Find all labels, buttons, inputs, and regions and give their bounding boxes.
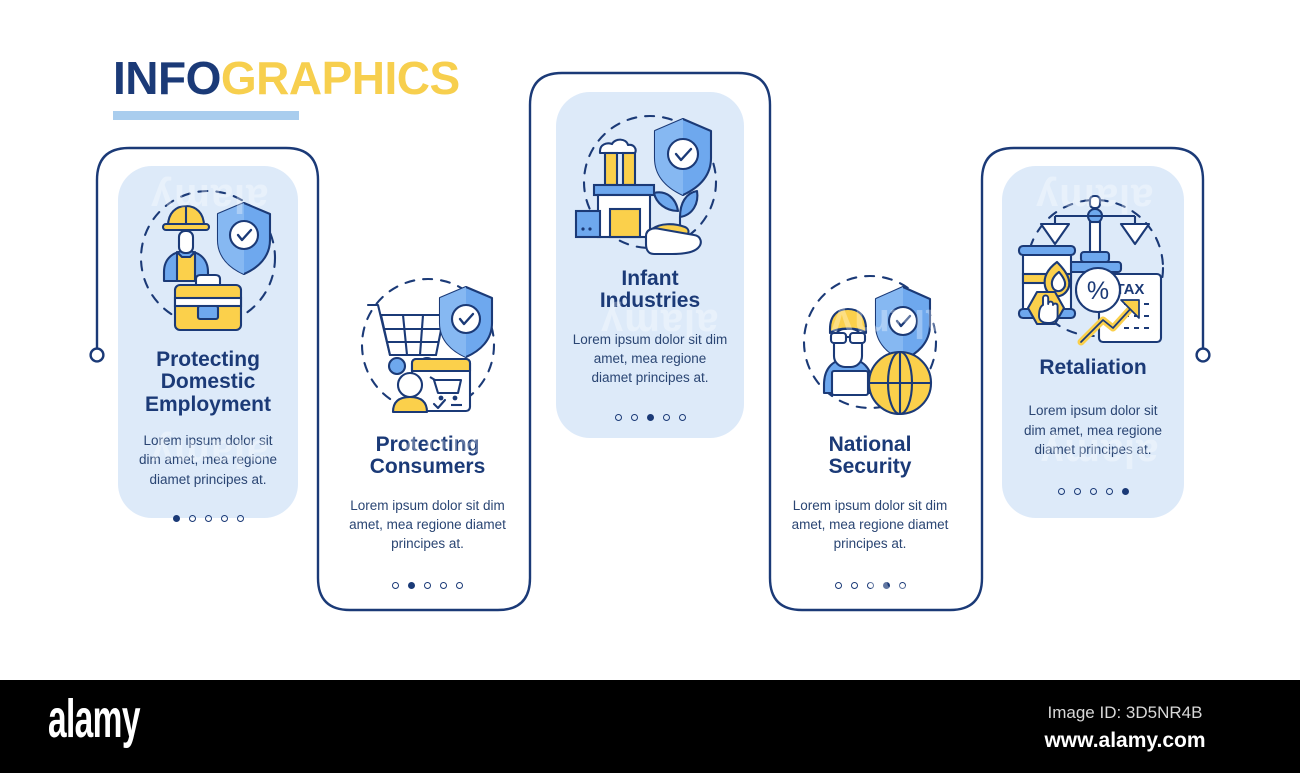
card-title-line: Protecting <box>376 433 480 456</box>
card-infant-industries[interactable]: Infant Industries Lorem ipsum dolor sit … <box>556 92 744 438</box>
step-indicator[interactable] <box>392 582 463 589</box>
watermark-text: alamy <box>610 555 728 600</box>
card-description: Lorem ipsum dolor sit dim amet, mea regi… <box>772 496 968 554</box>
card-description: Lorem ipsum dolor sit dim amet, mea regi… <box>330 496 525 554</box>
title-secondary: GRAPHICS <box>221 52 460 104</box>
alamy-url: www.alamy.com <box>1000 726 1250 755</box>
card-description: Lorem ipsum dolor sit dim amet, mea regi… <box>556 330 744 388</box>
step-dot[interactable] <box>883 582 890 589</box>
card-protecting-domestic-employment[interactable]: Protecting Domestic Employment Lorem ips… <box>118 166 298 518</box>
step-dot[interactable] <box>456 582 463 589</box>
title-primary: INFO <box>113 52 221 104</box>
step-dot[interactable] <box>189 515 196 522</box>
svg-text:%: % <box>1086 277 1108 305</box>
agent-shield-globe-icon <box>790 266 950 426</box>
step-dot[interactable] <box>835 582 842 589</box>
step-dot[interactable] <box>679 414 686 421</box>
factory-shield-sprout-icon <box>570 104 730 264</box>
step-dot[interactable] <box>1106 488 1113 495</box>
step-indicator[interactable] <box>835 582 906 589</box>
card-title-line: Infant <box>621 267 678 290</box>
card-title: Infant Industries <box>590 268 710 313</box>
card-title-line: Retaliation <box>1039 356 1146 379</box>
step-dot[interactable] <box>1058 488 1065 495</box>
card-title: National Security <box>819 434 922 479</box>
step-dot[interactable] <box>1074 488 1081 495</box>
card-title: Protecting Domestic Employment <box>135 349 281 416</box>
step-indicator[interactable] <box>1058 488 1129 495</box>
card-title-line: Employment <box>145 393 271 416</box>
card-national-security[interactable]: National Security Lorem ipsum dolor sit … <box>772 260 968 600</box>
card-description: Lorem ipsum dolor sit dim amet, mea regi… <box>1002 401 1184 459</box>
card-title-line: Protecting <box>156 348 260 371</box>
step-dot[interactable] <box>440 582 447 589</box>
image-id-label: Image ID: 3D5NR4B <box>1000 700 1250 726</box>
step-dot[interactable] <box>408 582 415 589</box>
card-title-line: Domestic <box>161 370 256 393</box>
step-dot[interactable] <box>663 414 670 421</box>
step-dot[interactable] <box>237 515 244 522</box>
path-end-node <box>1197 349 1210 362</box>
step-dot[interactable] <box>867 582 874 589</box>
watermark-text: alamy <box>390 175 508 220</box>
card-title-line: Security <box>829 455 912 478</box>
page-title: INFOGRAPHICS <box>113 55 460 120</box>
alamy-logo: alamy <box>48 692 140 746</box>
card-protecting-consumers[interactable]: Protecting Consumers Lorem ipsum dolor s… <box>330 260 525 600</box>
step-dot[interactable] <box>424 582 431 589</box>
step-dot[interactable] <box>647 414 654 421</box>
step-dot[interactable] <box>221 515 228 522</box>
card-title: Protecting Consumers <box>360 434 496 479</box>
step-dot[interactable] <box>1090 488 1097 495</box>
title-underline <box>113 111 299 120</box>
oil-scales-tax-icon: TAX % <box>1011 180 1176 355</box>
step-dot[interactable] <box>1122 488 1129 495</box>
path-start-node <box>91 349 104 362</box>
step-dot[interactable] <box>392 582 399 589</box>
footer-bar: alamy Image ID: 3D5NR4B www.alamy.com <box>0 680 1300 773</box>
step-dot[interactable] <box>851 582 858 589</box>
card-title-line: National <box>829 433 912 456</box>
card-retaliation[interactable]: TAX % Retaliation Lorem ipsum dolor sit … <box>1002 166 1184 518</box>
card-title-line: Consumers <box>370 455 486 478</box>
step-dot[interactable] <box>615 414 622 421</box>
card-description: Lorem ipsum dolor sit dim amet, mea regi… <box>118 431 298 489</box>
card-title: Retaliation <box>1029 357 1156 379</box>
step-dot[interactable] <box>899 582 906 589</box>
card-title-line: Industries <box>600 289 700 312</box>
step-dot[interactable] <box>205 515 212 522</box>
step-indicator[interactable] <box>173 515 244 522</box>
worker-shield-briefcase-icon <box>128 178 288 343</box>
step-indicator[interactable] <box>615 414 686 421</box>
step-dot[interactable] <box>631 414 638 421</box>
cart-shield-order-icon <box>348 266 508 426</box>
infographic-canvas: INFOGRAPHICS <box>0 0 1300 773</box>
step-dot[interactable] <box>173 515 180 522</box>
